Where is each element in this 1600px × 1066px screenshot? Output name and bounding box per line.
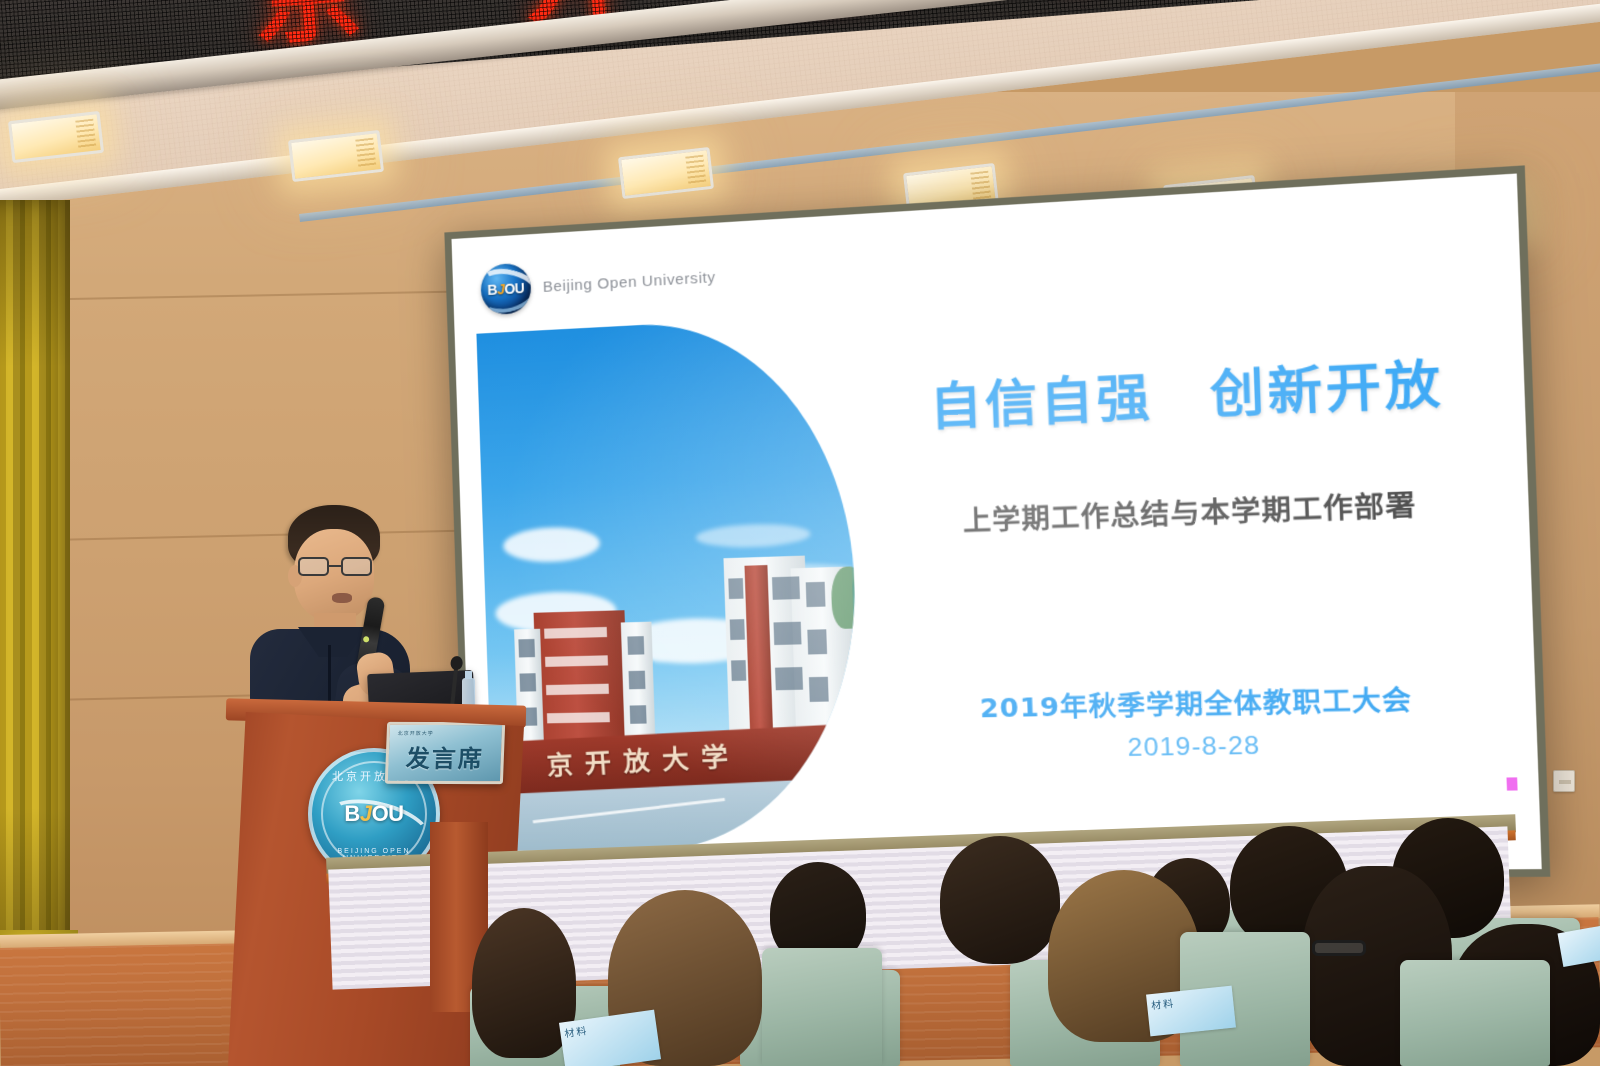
cloud bbox=[696, 522, 811, 549]
building-window bbox=[807, 629, 827, 654]
audience-torso bbox=[762, 948, 882, 1066]
placard-small-text: 北京开放大学 bbox=[398, 730, 434, 737]
building-window bbox=[728, 578, 743, 599]
slide-logo-wordmark: Beijing Open University bbox=[543, 268, 716, 295]
slide-subtitle: 上学期工作总结与本学期工作部署 bbox=[890, 481, 1496, 542]
speaker-shirt-placket bbox=[328, 645, 331, 707]
building-window bbox=[772, 576, 800, 599]
slide-logo: BJOU Beijing Open University bbox=[480, 251, 716, 315]
glasses-lens bbox=[341, 557, 372, 576]
building-window bbox=[545, 655, 608, 667]
building-window bbox=[546, 684, 609, 695]
building-window bbox=[775, 667, 803, 690]
building-window bbox=[730, 619, 745, 640]
speaker-glasses bbox=[298, 557, 372, 577]
building-window bbox=[627, 636, 644, 655]
building-window bbox=[547, 712, 610, 723]
campus-wall-sign-text: 京开放大学 bbox=[545, 736, 741, 783]
slide-date: 2019-8-28 bbox=[898, 727, 1505, 766]
speaker-mouth bbox=[332, 593, 352, 603]
building-window bbox=[518, 639, 535, 658]
glasses-lens bbox=[298, 557, 329, 576]
building-window bbox=[774, 622, 802, 645]
audience: 材料 材料 bbox=[0, 800, 1600, 1066]
bjou-logo-letters: BJOU bbox=[487, 280, 524, 298]
projection-screen: BJOU Beijing Open University bbox=[444, 165, 1550, 882]
campus-tree bbox=[830, 566, 863, 629]
cloud bbox=[503, 526, 601, 564]
wall-power-outlet bbox=[1553, 770, 1575, 792]
building-window bbox=[731, 660, 746, 681]
auditorium-photo: 京 开 放 大 学 全 BJOU Beijing Open University bbox=[0, 0, 1600, 1066]
presentation-slide: BJOU Beijing Open University bbox=[451, 174, 1541, 876]
building-window bbox=[629, 671, 646, 690]
screen-dead-pixel bbox=[1507, 777, 1518, 790]
building-window bbox=[544, 627, 607, 639]
slide-title: 自信自强 创新开放 bbox=[885, 339, 1492, 441]
building-window bbox=[630, 705, 647, 724]
building-window bbox=[520, 673, 537, 691]
glasses-bridge bbox=[329, 565, 341, 567]
campus-photo: 京开放大学 bbox=[476, 314, 863, 851]
bjou-logo-mark: BJOU bbox=[480, 262, 532, 315]
audience-glasses bbox=[1312, 940, 1366, 956]
slide-meeting-name: 2019年秋季学期全体教职工大会 bbox=[896, 677, 1503, 727]
building-window bbox=[809, 677, 829, 702]
audience-torso bbox=[1400, 960, 1550, 1066]
speaker-placard: 北京开放大学 发言席 bbox=[385, 722, 505, 784]
placard-text: 发言席 bbox=[405, 738, 484, 773]
building-window bbox=[806, 582, 826, 607]
audience-head bbox=[940, 836, 1060, 964]
handout: 材料 bbox=[1146, 986, 1236, 1037]
